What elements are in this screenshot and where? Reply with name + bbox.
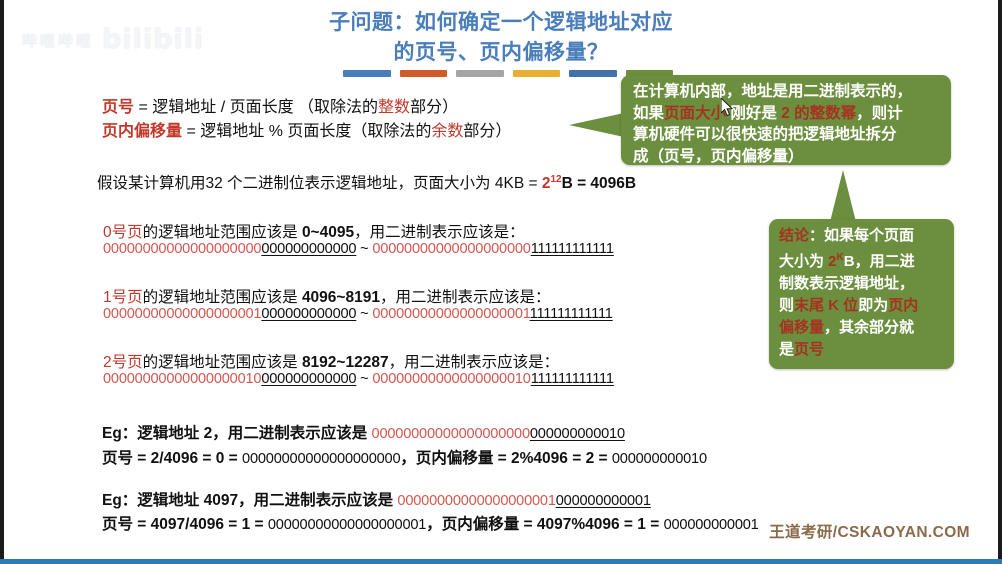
callout-conclusion-line-6: 是页号 — [779, 339, 946, 361]
divider-bar-3 — [456, 70, 504, 77]
callout-conclusion-l4a: 则 — [779, 297, 794, 314]
page-title-line-2: 的页号、页内偏移量？ — [4, 38, 998, 68]
brand-footer: 王道考研/CSKAOYAN.COM — [769, 520, 970, 542]
example-0-page-label: 页号 = 2/4096 = 0 = — [102, 450, 242, 467]
page-row-1-low-prefix: 00000000000000000001 — [103, 306, 261, 322]
video-progress-fill[interactable] — [0, 559, 1002, 564]
callout-top-l2b: 刚好是 — [726, 105, 781, 122]
example-0-head-text: Eg：逻辑地址 2，用二进制表示应该是 — [102, 425, 372, 442]
callout-conclusion: 结论：如果每个页面 大小为 2KB，用二进 制数表示逻辑地址， 则末尾 K 位即… — [769, 219, 954, 369]
example-0-bin-suffix: 000000000010 — [530, 426, 625, 442]
page-row-0-range: 0~4095 — [302, 224, 354, 241]
page-row-0-tilde: ~ — [356, 241, 372, 257]
callout-conclusion-highlight-last-k: 末尾 K 位 — [794, 297, 858, 314]
callout-conclusion-l1: ：如果每个页面 — [809, 227, 914, 244]
page-row-0-description: 0号页的逻辑地址范围应该是 0~4095，用二进制表示应该是： — [103, 220, 525, 242]
page-row-0-high-suffix: 111111111111 — [531, 241, 614, 257]
page-row-0-desc-after: ，用二进制表示应该是： — [354, 224, 525, 241]
page-row-1-range: 4096~8191 — [302, 289, 380, 306]
callout-top-line-3: 算机硬件可以很快速的把逻辑地址拆分 — [633, 124, 941, 146]
page-title: 子问题：如何确定一个逻辑地址对应 的页号、页内偏移量？ — [4, 8, 998, 68]
formula-page-number-highlight: 整数 — [378, 99, 410, 116]
callout-conclusion-highlight-page-number: 页号 — [794, 341, 824, 358]
divider-bar-5 — [569, 70, 617, 77]
formula-page-number-body: = 逻辑地址 / 页面长度 （取除法的 — [134, 99, 378, 116]
page-row-2-desc-before: 的逻辑地址范围应该是 — [143, 354, 302, 371]
formula-offset-body: = 逻辑地址 % 页面长度（取除法的 — [182, 123, 431, 140]
example-0-calc: 页号 = 2/4096 = 0 = 00000000000000000000，页… — [102, 446, 707, 468]
callout-conclusion-line-1: 结论：如果每个页面 — [779, 225, 946, 247]
page-row-1-high-suffix: 111111111111 — [530, 306, 613, 322]
callout-conclusion-line-5: 偏移量，其余部分就 — [779, 317, 946, 339]
divider-bar-1 — [343, 70, 391, 77]
example-1-offset-bin: 000000000001 — [664, 517, 759, 533]
callout-conclusion-highlight-offset-b: 偏移量 — [779, 319, 824, 336]
callout-conclusion-keyword: 结论 — [779, 227, 809, 244]
page-row-0-high-prefix: 00000000000000000000 — [372, 241, 530, 257]
video-progress-track[interactable] — [0, 559, 1002, 564]
callout-conclusion-line-3: 制数表示逻辑地址， — [779, 273, 946, 295]
page-row-1-low-suffix: 000000000000 — [261, 306, 356, 322]
page-row-2-description: 2号页的逻辑地址范围应该是 8192~12287，用二进制表示应该是： — [103, 350, 559, 372]
divider-bar-4 — [513, 70, 561, 77]
page-row-0-binary: 00000000000000000000000000000000 ~ 00000… — [103, 241, 614, 257]
example-0-separator: ，页内偏移量 = 2%4096 = 2 = — [400, 450, 612, 467]
assumption-line: 假设某计算机用32 个二进制位表示逻辑地址，页面大小为 4KB = 212B =… — [97, 171, 636, 193]
callout-top-highlight-page-size: 页面大小 — [664, 105, 726, 122]
callout-conclusion-l2b: B，用二进 — [844, 253, 915, 270]
callout-conclusion-l2a: 大小为 — [779, 253, 828, 270]
page-row-0-desc-before: 的逻辑地址范围应该是 — [143, 224, 302, 241]
callout-top-line-1-text: 在计算机内部，地址是用二进制表示的， — [633, 83, 912, 100]
example-1-bin-suffix: 000000000001 — [556, 493, 651, 509]
callout-conclusion-line-2: 大小为 2KB，用二进 — [779, 247, 946, 273]
divider-bar-2 — [400, 70, 448, 77]
example-1-head-text: Eg：逻辑地址 4097，用二进制表示应该是 — [102, 492, 397, 509]
page-row-2-low-suffix: 000000000000 — [261, 371, 356, 387]
example-1-calc: 页号 = 4097/4096 = 1 = 0000000000000000000… — [102, 512, 759, 534]
page-row-1-label: 1号页 — [103, 289, 143, 306]
page-row-2-binary: 00000000000000000010000000000000 ~ 00000… — [103, 371, 614, 387]
page-row-2-low-prefix: 00000000000000000010 — [103, 371, 261, 387]
formula-page-number-term: 页号 — [102, 99, 134, 116]
page-row-1-binary: 00000000000000000001000000000000 ~ 00000… — [103, 306, 613, 322]
callout-conclusion-power-base: 2 — [828, 253, 836, 270]
formula-offset-term: 页内偏移量 — [102, 123, 182, 140]
assumption-prefix: 假设某计算机用32 个二进制位表示逻辑地址，页面大小为 4KB = — [97, 175, 542, 192]
page-row-0-low-prefix: 00000000000000000000 — [103, 241, 261, 257]
player-right-edge — [998, 0, 1002, 564]
page-row-2-tilde: ~ — [356, 371, 372, 387]
callout-top-highlight-power-of-two: 2 的整数幂 — [781, 105, 856, 122]
callout-top-l2a: 如果 — [633, 105, 664, 122]
callout-conclusion-l6a: 是 — [779, 341, 794, 358]
page-row-2-high-suffix: 111111111111 — [531, 371, 614, 387]
callout-binary-explanation: 在计算机内部，地址是用二进制表示的， 如果页面大小 刚好是 2 的整数幂，则计 … — [621, 75, 951, 165]
formula-offset-highlight: 余数 — [431, 123, 463, 140]
callout-conclusion-l4b: 即为 — [858, 297, 888, 314]
example-1-page-label: 页号 = 4097/4096 = 1 = — [102, 516, 268, 533]
formula-offset: 页内偏移量 = 逻辑地址 % 页面长度（取除法的余数部分） — [102, 117, 511, 141]
example-0-head: Eg：逻辑地址 2，用二进制表示应该是 00000000000000000000… — [102, 421, 625, 443]
callout-top-line-4: 成（页号，页内偏移量） — [633, 146, 941, 168]
callout-conclusion-highlight-offset-a: 页内 — [888, 297, 918, 314]
slide-canvas: 哔哩哔哩 bilibili 子问题：如何确定一个逻辑地址对应 的页号、页内偏移量… — [4, 0, 998, 556]
example-0-offset-bin: 000000000010 — [612, 451, 707, 467]
callout-top-l2c: ，则计 — [856, 105, 903, 122]
example-1-page-bin: 00000000000000000001 — [268, 517, 426, 533]
page-row-1-tilde: ~ — [356, 306, 372, 322]
example-1-head: Eg：逻辑地址 4097，用二进制表示应该是 00000000000000000… — [102, 488, 651, 510]
page-row-1-description: 1号页的逻辑地址范围应该是 4096~8191，用二进制表示应该是： — [103, 285, 550, 307]
page-row-1-desc-before: 的逻辑地址范围应该是 — [143, 289, 302, 306]
callout-conclusion-line-4: 则末尾 K 位即为页内 — [779, 295, 946, 317]
callout-conclusion-power-exponent: K — [837, 252, 844, 263]
page-title-line-1: 子问题：如何确定一个逻辑地址对应 — [4, 8, 998, 38]
page-row-2-range: 8192~12287 — [302, 354, 389, 371]
assumption-power-exponent: 12 — [550, 174, 561, 185]
callout-conclusion-l5: ，其余部分就 — [824, 319, 914, 336]
page-row-0-low-suffix: 000000000000 — [261, 241, 356, 257]
mouse-cursor-icon — [721, 98, 734, 118]
example-1-bin-prefix: 00000000000000000001 — [397, 493, 555, 509]
callout-top-tail-arrow — [569, 113, 624, 137]
page-row-0-label: 0号页 — [103, 224, 143, 241]
example-0-bin-prefix: 00000000000000000000 — [372, 426, 530, 442]
formula-page-number-tail: 部分） — [410, 99, 458, 116]
page-row-1-high-prefix: 00000000000000000001 — [372, 306, 529, 322]
formula-page-number: 页号 = 逻辑地址 / 页面长度 （取除法的整数部分） — [102, 93, 458, 117]
page-row-2-desc-after: ，用二进制表示应该是： — [389, 354, 560, 371]
page-row-2-high-prefix: 00000000000000000010 — [372, 371, 530, 387]
formula-offset-tail: 部分） — [463, 123, 511, 140]
assumption-suffix: B = 4096B — [562, 175, 637, 192]
callout-top-line-2: 如果页面大小 刚好是 2 的整数幂，则计 — [633, 103, 941, 125]
example-0-page-bin: 00000000000000000000 — [242, 451, 400, 467]
page-row-2-label: 2号页 — [103, 354, 143, 371]
example-1-separator: ，页内偏移量 = 4097%4096 = 1 = — [426, 516, 663, 533]
callout-top-line-1: 在计算机内部，地址是用二进制表示的， — [633, 81, 941, 103]
page-row-1-desc-after: ，用二进制表示应该是： — [380, 289, 551, 306]
callout-conclusion-tail-arrow — [830, 170, 856, 222]
